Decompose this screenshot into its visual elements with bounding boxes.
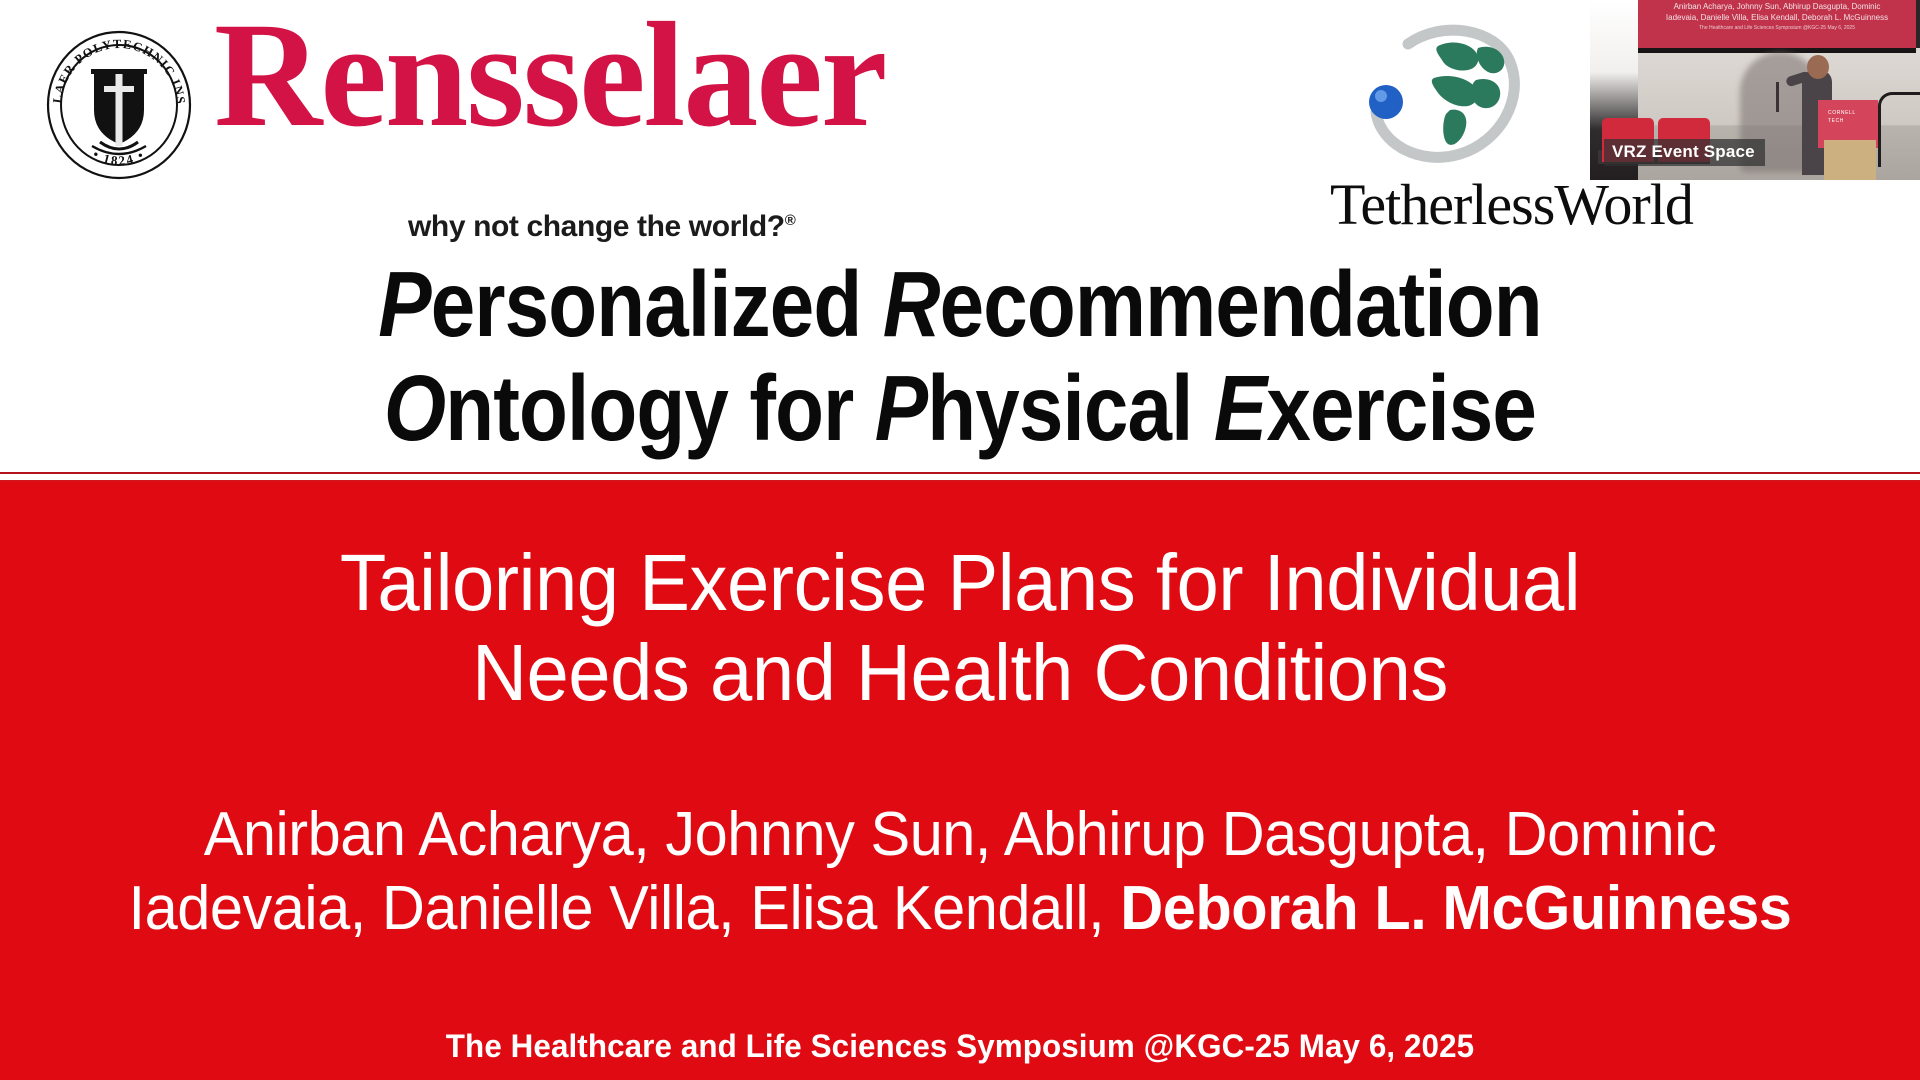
- presentation-slide: RENSSELAER POLYTECHNIC INSTITUTE • 1824 …: [0, 0, 1920, 1080]
- title-line-1-initial-r: R: [883, 252, 940, 356]
- authors-line-2: Iadevaia, Danielle Villa, Elisa Kendall,…: [38, 872, 1881, 946]
- title-line-2-initial-o: O: [384, 356, 445, 460]
- subtitle-line-1: Tailoring Exercise Plans for Individual: [48, 538, 1872, 628]
- title-line-2-initial-p: P: [875, 356, 927, 460]
- authors-line-2-separator: ,: [1088, 874, 1120, 943]
- tetherless-world-name: TetherlessWorld: [1330, 176, 1693, 234]
- slide-footer: The Healthcare and Life Sciences Symposi…: [19, 1028, 1901, 1065]
- video-slide-authors-line2: Iadevaia, Danielle Villa, Elisa Kendall,…: [1638, 13, 1916, 22]
- video-projected-slide: Anirban Acharya, Johnny Sun, Abhirup Das…: [1638, 0, 1916, 53]
- title-line-2-rest-c: xercise: [1266, 356, 1536, 460]
- authors-lead-author: Deborah L. McGuinness: [1120, 874, 1791, 943]
- rensselaer-tagline: why not change the world?®: [408, 210, 795, 244]
- title-line-1: Personalized Recommendation: [134, 252, 1785, 356]
- podium-brand-line1: CORNELL: [1828, 110, 1856, 118]
- slide-subtitle: Tailoring Exercise Plans for Individual …: [0, 538, 1920, 717]
- title-line-2: Ontology for Physical Exercise: [134, 356, 1785, 460]
- authors-line-2-normal: Iadevaia, Danielle Villa, Elisa Kendall: [129, 874, 1089, 943]
- rensselaer-wordmark: Rensselaer: [214, 0, 885, 150]
- globe-icon: [1350, 18, 1540, 173]
- video-slide-authors-line1: Anirban Acharya, Johnny Sun, Abhirup Das…: [1638, 2, 1916, 11]
- title-line-1-rest-a: ersonalized: [431, 252, 883, 356]
- video-podium-branding: CORNELL TECH: [1828, 110, 1856, 125]
- title-line-1-rest-b: ecommendation: [940, 252, 1542, 356]
- video-microphone-stand: [1776, 82, 1779, 112]
- page-title: Personalized Recommendation Ontology for…: [0, 252, 1920, 460]
- video-location-label: VRZ Event Space: [1604, 139, 1765, 166]
- video-speaker-head: [1807, 55, 1829, 79]
- section-divider: [0, 472, 1920, 482]
- title-line-2-rest-a: ntology for: [445, 356, 875, 460]
- presenter-video-thumbnail[interactable]: Anirban Acharya, Johnny Sun, Abhirup Das…: [1590, 0, 1920, 180]
- author-list: Anirban Acharya, Johnny Sun, Abhirup Das…: [0, 798, 1920, 947]
- title-line-2-rest-b: hysical: [927, 356, 1214, 460]
- title-line-2-initial-e: E: [1214, 356, 1266, 460]
- slide-body-red-area: Tailoring Exercise Plans for Individual …: [0, 478, 1920, 1080]
- title-line-1-initial-p: P: [378, 252, 430, 356]
- rensselaer-logo: RENSSELAER POLYTECHNIC INSTITUTE • 1824 …: [44, 22, 864, 202]
- video-stair-rail: [1878, 92, 1920, 167]
- video-slide-footer: The Healthcare and Life Sciences Symposi…: [1638, 25, 1916, 31]
- podium-brand-line2: TECH: [1828, 118, 1856, 126]
- slide-header-white-area: RENSSELAER POLYTECHNIC INSTITUTE • 1824 …: [0, 0, 1920, 478]
- subtitle-line-2: Needs and Health Conditions: [48, 628, 1872, 718]
- rensselaer-tagline-text: why not change the world?: [408, 210, 785, 243]
- video-podium-base: [1824, 140, 1876, 180]
- registered-mark-icon: ®: [785, 212, 796, 229]
- authors-line-1: Anirban Acharya, Johnny Sun, Abhirup Das…: [38, 798, 1881, 872]
- rensselaer-seal-icon: RENSSELAER POLYTECHNIC INSTITUTE • 1824 …: [44, 30, 194, 180]
